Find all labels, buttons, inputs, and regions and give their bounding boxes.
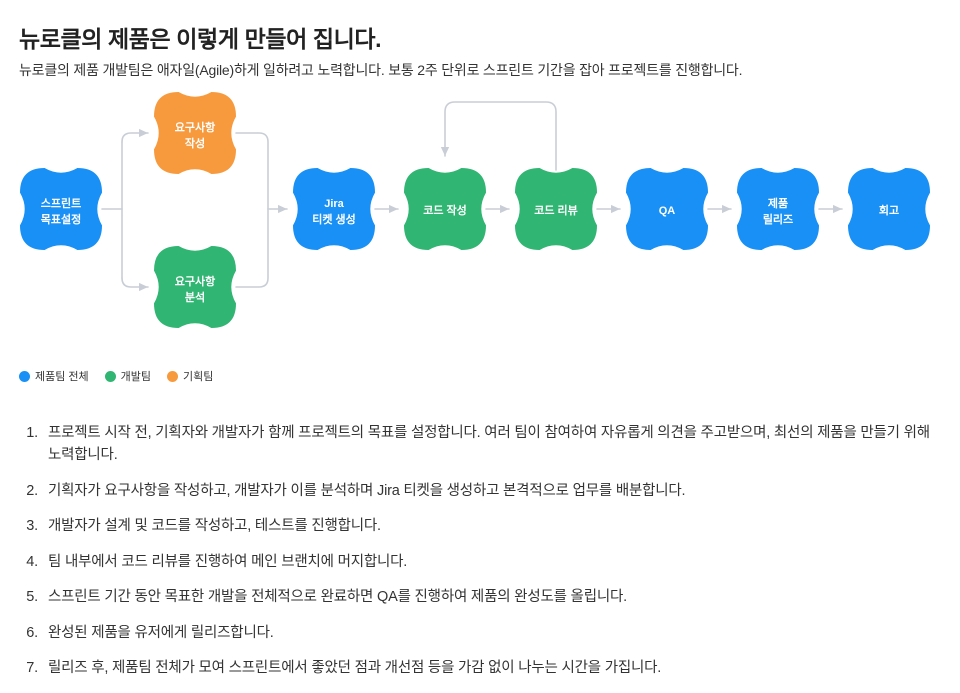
list-item-number: 2. xyxy=(19,480,48,502)
list-item: 4.팀 내부에서 코드 리뷰를 진행하여 메인 브랜치에 머지합니다. xyxy=(19,551,941,573)
flow-node-sprint-goal[interactable]: 스프린트목표설정 xyxy=(20,168,102,250)
flow-node-label: 작성 xyxy=(185,136,205,150)
flow-node-label: QA xyxy=(659,205,676,217)
list-item: 1.프로젝트 시작 전, 기획자와 개발자가 함께 프로젝트의 목표를 설정합니… xyxy=(19,422,941,467)
list-item-number: 5. xyxy=(19,586,48,608)
flow-node-label: 코드 작성 xyxy=(423,203,467,217)
list-item-number: 1. xyxy=(19,422,48,444)
legend-item-label: 제품팀 전체 xyxy=(35,368,89,384)
flow-connector-from-req-analyze xyxy=(236,209,268,287)
legend-item-label: 개발팀 xyxy=(121,368,151,384)
flow-node-label: 요구사항 xyxy=(175,120,215,134)
flow-node-label: Jira xyxy=(324,198,344,210)
legend: 제품팀 전체개발팀기획팀 xyxy=(19,368,213,384)
page-root: 뉴로클의 제품은 이렇게 만들어 집니다. 뉴로클의 제품 개발팀은 애자일(A… xyxy=(0,0,960,684)
legend-item-green: 개발팀 xyxy=(105,368,151,384)
flow-node-label: 제품 xyxy=(768,196,788,210)
list-item-number: 7. xyxy=(19,657,48,679)
flow-node-label: 회고 xyxy=(879,203,899,217)
flow-node-req-analyze[interactable]: 요구사항분석 xyxy=(154,246,236,328)
list-item-text: 팀 내부에서 코드 리뷰를 진행하여 메인 브랜치에 머지합니다. xyxy=(48,551,941,573)
list-item-text: 기획자가 요구사항을 작성하고, 개발자가 이를 분석하며 Jira 티켓을 생… xyxy=(48,480,941,502)
page-title: 뉴로클의 제품은 이렇게 만들어 집니다. xyxy=(19,20,381,54)
flow-node-retrospective[interactable]: 회고 xyxy=(848,168,930,250)
list-item: 5.스프린트 기간 동안 목표한 개발을 전체적으로 완료하면 QA를 진행하여… xyxy=(19,586,941,608)
node-layer: 스프린트목표설정요구사항작성요구사항분석Jira티켓 생성코드 작성코드 리뷰Q… xyxy=(20,92,930,328)
legend-item-orange: 기획팀 xyxy=(167,368,213,384)
list-item-text: 완성된 제품을 유저에게 릴리즈합니다. xyxy=(48,622,941,644)
list-item-text: 개발자가 설계 및 코드를 작성하고, 테스트를 진행합니다. xyxy=(48,515,941,537)
flow-node-label: 요구사항 xyxy=(175,274,215,288)
list-item-number: 4. xyxy=(19,551,48,573)
legend-color-dot-icon xyxy=(19,371,30,382)
flow-node-qa[interactable]: QA xyxy=(626,168,708,250)
list-item-text: 스프린트 기간 동안 목표한 개발을 전체적으로 완료하면 QA를 진행하여 제… xyxy=(48,586,941,608)
flow-node-jira-ticket[interactable]: Jira티켓 생성 xyxy=(293,168,375,250)
legend-color-dot-icon xyxy=(167,371,178,382)
flow-node-label: 코드 리뷰 xyxy=(534,203,578,217)
list-item-number: 6. xyxy=(19,622,48,644)
flow-node-code-review[interactable]: 코드 리뷰 xyxy=(515,168,597,250)
legend-item-label: 기획팀 xyxy=(183,368,213,384)
legend-color-dot-icon xyxy=(105,371,116,382)
list-item-text: 프로젝트 시작 전, 기획자와 개발자가 함께 프로젝트의 목표를 설정합니다.… xyxy=(48,422,941,467)
list-item: 7.릴리즈 후, 제품팀 전체가 모여 스프린트에서 좋았던 점과 개선점 등을… xyxy=(19,657,941,679)
process-flow-diagram: 스프린트목표설정요구사항작성요구사항분석Jira티켓 생성코드 작성코드 리뷰Q… xyxy=(0,88,960,348)
flow-connector-feedback-loop xyxy=(445,102,556,170)
list-item-number: 3. xyxy=(19,515,48,537)
flow-node-label: 분석 xyxy=(185,290,205,304)
list-item: 3.개발자가 설계 및 코드를 작성하고, 테스트를 진행합니다. xyxy=(19,515,941,537)
flow-node-label: 릴리즈 xyxy=(763,212,793,226)
steps-list: 1.프로젝트 시작 전, 기획자와 개발자가 함께 프로젝트의 목표를 설정합니… xyxy=(19,422,941,693)
flow-node-label: 목표설정 xyxy=(41,212,81,226)
flow-connector-to-req-write xyxy=(122,133,148,142)
page-subtitle: 뉴로클의 제품 개발팀은 애자일(Agile)하게 일하려고 노력합니다. 보통… xyxy=(19,60,742,80)
legend-item-blue: 제품팀 전체 xyxy=(19,368,89,384)
flow-connector-to-req-analyze xyxy=(122,278,148,287)
flow-node-code-write[interactable]: 코드 작성 xyxy=(404,168,486,250)
flow-node-label: 스프린트 xyxy=(41,196,81,210)
flow-connector-from-req-write xyxy=(236,133,268,209)
flow-diagram-canvas: 스프린트목표설정요구사항작성요구사항분석Jira티켓 생성코드 작성코드 리뷰Q… xyxy=(0,88,960,348)
list-item: 6.완성된 제품을 유저에게 릴리즈합니다. xyxy=(19,622,941,644)
flow-node-label: 티켓 생성 xyxy=(312,212,356,226)
flow-node-release[interactable]: 제품릴리즈 xyxy=(737,168,819,250)
list-item: 2.기획자가 요구사항을 작성하고, 개발자가 이를 분석하며 Jira 티켓을… xyxy=(19,480,941,502)
list-item-text: 릴리즈 후, 제품팀 전체가 모여 스프린트에서 좋았던 점과 개선점 등을 가… xyxy=(48,657,941,679)
flow-node-req-write[interactable]: 요구사항작성 xyxy=(154,92,236,174)
